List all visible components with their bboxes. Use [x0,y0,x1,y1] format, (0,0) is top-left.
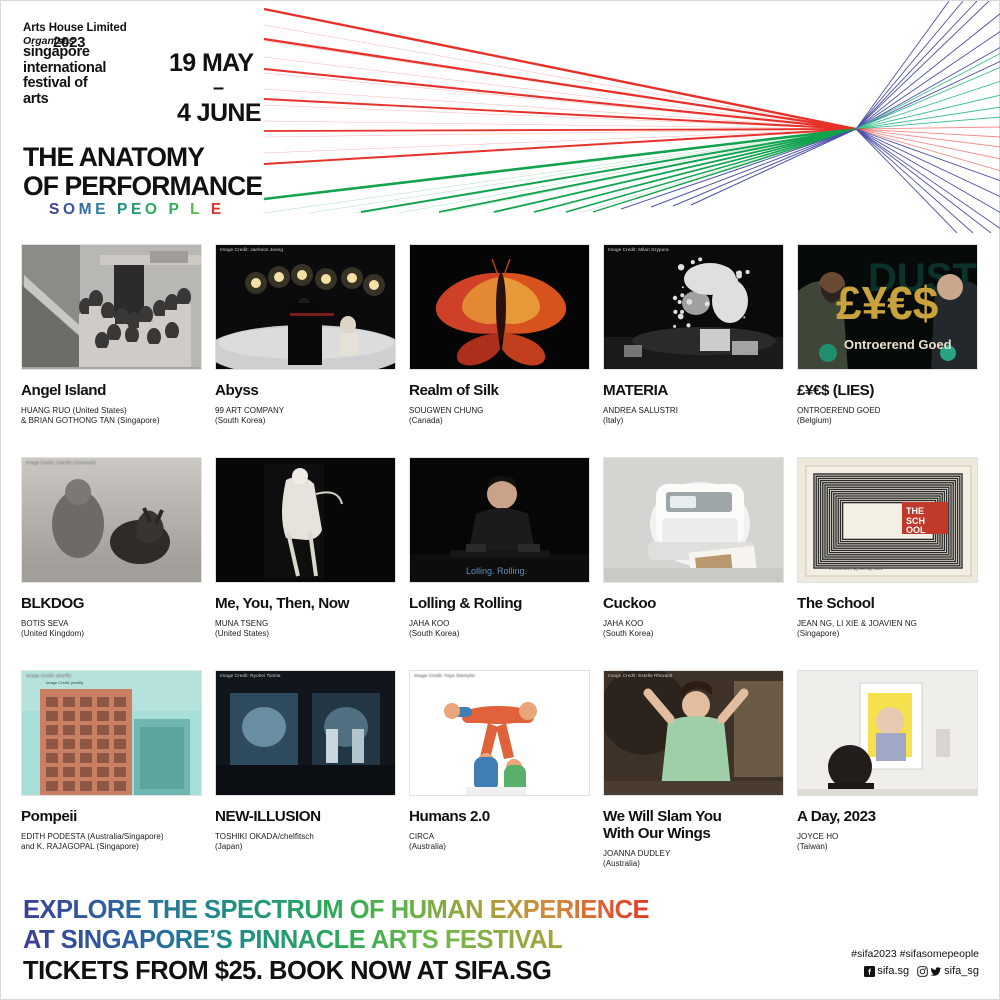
ray-line [856,53,1000,129]
svg-text:THE: THE [906,506,924,516]
subtheme-letter-4 [109,201,117,218]
ray-line [264,129,856,213]
image-credit: Image Credit: Milan Szypura [608,247,669,252]
tagline-line-1: EXPLORE THE SPECTRUM OF HUMAN EXPERIENCE [23,896,649,925]
pompeii-photo[interactable]: Image Credit: pixelflyImage Credit: pixe… [21,670,202,796]
programme-card[interactable]: Angel IslandHUANG RUO (United States)& B… [21,244,202,425]
programme-card[interactable]: Me, You, Then, NowMUNA TSENG(United Stat… [215,457,396,638]
we-will-slam-you-photo[interactable]: Image Credit: Estelle Rhiwaldt [603,670,784,796]
programme-card[interactable]: Lolling. Rolling.Lolling & RollingJAHA K… [409,457,590,638]
facebook-handle[interactable]: sifa.sg [877,965,909,977]
image-credit: Image Credit: Ryohei Tomita [220,673,281,678]
card-title: Angel Island [21,382,202,399]
instagram-icon[interactable] [917,966,928,977]
materia-photo[interactable]: Image Credit: Milan Szypura [603,244,784,370]
artist-line-2: (United Kingdom) [21,629,202,639]
image-credit: Image Credit: pixelfly [26,673,71,678]
ray-line [856,129,1000,197]
card-artist-credit: JOANNA DUDLEY(Australia) [603,849,784,868]
ray-line [264,69,856,129]
programme-card[interactable]: Image Credit: Estelle RhiwaldtWe Will Sl… [603,670,784,868]
image-credit: Image Credit: Yaya Stempler [414,673,475,678]
artist-line-1: ONTROEREND GOED [797,406,978,416]
theme-line-2: OF PERFORMANCE [23,172,262,201]
card-artist-credit: HUANG RUO (United States)& BRIAN GOTHONG… [21,406,202,425]
card-title: Humans 2.0 [409,808,590,825]
poster-header: Arts House Limited Organises 2023 singap… [1,1,999,233]
ray-line [264,9,856,129]
tagline-line-2: AT SINGAPORE’S PINNACLE ARTS FESTIVAL [23,926,562,955]
card-artist-credit: MUNA TSENG(United States) [215,619,396,638]
subtheme-letter-12 [203,201,211,218]
tagline-line-3: TICKETS FROM $25. BOOK NOW AT SIFA.SG [23,957,551,986]
artist-line-1: ANDREA SALUSTRI [603,406,784,416]
angel-island-photo[interactable] [21,244,202,370]
organisation-name: Arts House Limited [23,21,253,35]
lies-photo[interactable]: DUST £¥€$ Ontroerend Goed [797,244,978,370]
artist-line-2: (Australia) [409,842,590,852]
blkdog-photo[interactable]: Image Credit: Camilla Greenwell [21,457,202,583]
card-title: £¥€$ (LIES) [797,382,978,399]
artist-line-2: (Italy) [603,416,784,426]
subtheme-letter-13: E [211,201,225,218]
festival-name: singapore international festival of arts [23,45,106,107]
twitter-icon[interactable] [930,966,942,977]
svg-text:T. Devereux | Ng Jen Ng, 202: T. Devereux | Ng Jen Ng, 2023 [828,566,883,571]
card-artist-credit: ANDREA SALUSTRI(Italy) [603,406,784,425]
artist-line-2: (South Korea) [409,629,590,639]
subtheme-letter-6: E [131,201,145,218]
facebook-icon[interactable] [864,966,875,977]
card-title: Me, You, Then, Now [215,595,396,612]
programme-card[interactable]: Image Credit: Ryohei TomitaNEW-ILLUSIONT… [215,670,396,868]
card-title: MATERIA [603,382,784,399]
programme-card[interactable]: DUST £¥€$ Ontroerend Goed£¥€$ (LIES)ONTR… [797,244,978,425]
card-artist-credit: JAHA KOO(South Korea) [409,619,590,638]
card-artist-credit: BOTIS SEVA(United Kingdom) [21,619,202,638]
ray-line [856,129,973,233]
card-title: Cuckoo [603,595,784,612]
subtheme-letter-11: L [190,201,203,218]
theme-title: THE ANATOMY OF PERFORMANCE [23,143,262,201]
ray-line [264,89,856,129]
subtheme-letter-9: P [169,201,183,218]
cuckoo-photo[interactable] [603,457,784,583]
new-illusion-photo[interactable]: Image Credit: Ryohei Tomita [215,670,396,796]
artist-line-2: (Singapore) [797,629,978,639]
subtheme-letter-3: E [95,201,109,218]
programme-grid: Angel IslandHUANG RUO (United States)& B… [1,233,1000,868]
programme-card[interactable]: CuckooJAHA KOO(South Korea) [603,457,784,638]
ray-line [264,41,856,129]
ray-line [856,129,991,233]
card-artist-credit: 99 ART COMPANY(South Korea) [215,406,396,425]
card-title: BLKDOG [21,595,202,612]
ray-line [264,39,856,129]
social-handles: sifa.sg sifa_sg [864,965,979,977]
subtheme-some-people: SOME PEO P L E [49,201,225,219]
image-credit: Image Credit: Camilla Greenwell [26,460,95,465]
ray-line [264,105,856,129]
card-title: We Will Slam You With Our Wings [603,808,784,842]
subtheme-letter-7: O [145,201,161,218]
artist-line-2: & BRIAN GOTHONG TAN (Singapore) [21,416,202,426]
the-school-photo[interactable]: THE SCH OOL T. Devereux | Ng Jen Ng, 202… [797,457,978,583]
programme-card[interactable]: THE SCH OOL T. Devereux | Ng Jen Ng, 202… [797,457,978,638]
artist-line-2: and K. RAJAGOPAL (Singapore) [21,842,202,852]
svg-text:Image Credit: pixelfly: Image Credit: pixelfly [46,680,83,685]
svg-text:£¥€$: £¥€$ [836,277,938,329]
programme-row: Image Credit: Camilla GreenwellBLKDOGBOT… [1,457,1000,638]
subtheme-letter-10 [182,201,190,218]
artist-line-1: JOANNA DUDLEY [603,849,784,859]
subtheme-letter-5: P [117,201,131,218]
card-title: Realm of Silk [409,382,590,399]
artist-line-2: (South Korea) [215,416,396,426]
realm-of-silk-photo[interactable] [409,244,590,370]
svg-text:Ontroerend Goed: Ontroerend Goed [844,337,952,352]
artist-line-2: (Canada) [409,416,590,426]
subtheme-letter-1: O [63,201,79,218]
card-artist-credit: TOSHIKI OKADA/chelfitsch(Japan) [215,832,396,851]
card-title: Lolling & Rolling [409,595,590,612]
artist-line-1: BOTIS SEVA [21,619,202,629]
artist-line-2: (Belgium) [797,416,978,426]
card-artist-credit: JEAN NG, LI XIE & JOAVIEN NG(Singapore) [797,619,978,638]
artist-line-1: HUANG RUO (United States) [21,406,202,416]
ray-line [856,31,1000,129]
card-artist-credit: EDITH PODESTA (Australia/Singapore)and K… [21,832,202,851]
abyss-photo[interactable]: Image Credit: Jaehoon Jeong [215,244,396,370]
card-title: Pompeii [21,808,202,825]
artist-line-1: TOSHIKI OKADA/chelfitsch [215,832,396,842]
date-start: 19 MAY [169,49,253,77]
twitter-handle[interactable]: sifa_sg [944,965,979,977]
theme-line-1: THE ANATOMY [23,143,262,172]
programme-card[interactable]: Realm of SilkSOUGWEN CHUNG(Canada) [409,244,590,425]
programme-card[interactable]: Image Credit: pixelflyImage Credit: pixe… [21,670,202,868]
image-credit: Image Credit: Estelle Rhiwaldt [608,673,673,678]
artist-line-1: JAHA KOO [409,619,590,629]
programme-row: Angel IslandHUANG RUO (United States)& B… [1,244,1000,425]
card-artist-credit: CIRCA(Australia) [409,832,590,851]
programme-card[interactable]: Image Credit: Camilla GreenwellBLKDOGBOT… [21,457,202,638]
ray-line [856,129,1000,213]
artist-line-2: (South Korea) [603,629,784,639]
artist-line-2: (United States) [215,629,396,639]
svg-text:Lolling. Rolling.: Lolling. Rolling. [466,566,527,576]
card-artist-credit: JOYCE HO(Taiwan) [797,832,978,851]
card-title: A Day, 2023 [797,808,978,825]
artist-line-1: 99 ART COMPANY [215,406,396,416]
artist-line-1: SOUGWEN CHUNG [409,406,590,416]
programme-row: Image Credit: pixelflyImage Credit: pixe… [1,670,1000,868]
card-artist-credit: ONTROEREND GOED(Belgium) [797,406,978,425]
hashtags: #sifa2023 #sifasomepeople [851,948,979,960]
subtheme-letter-8 [161,201,169,218]
ray-line [856,129,1000,137]
artist-line-1: MUNA TSENG [215,619,396,629]
artist-line-1: JOYCE HO [797,832,978,842]
artist-line-1: JAHA KOO [603,619,784,629]
svg-text:OOL: OOL [906,525,926,535]
poster-page: Arts House Limited Organises 2023 singap… [0,0,1000,1000]
programme-card[interactable]: Image Credit: Jaehoon JeongAbyss99 ART C… [215,244,396,425]
artist-line-2: (Australia) [603,859,784,869]
card-title: Abyss [215,382,396,399]
programme-card[interactable]: A Day, 2023JOYCE HO(Taiwan) [797,670,978,868]
ray-line [264,99,856,129]
ray-line [856,129,957,233]
ray-line [579,129,856,213]
artist-line-2: (Taiwan) [797,842,978,852]
card-title: The School [797,595,978,612]
date-dash: – [213,78,261,98]
image-credit: Image Credit: Jaehoon Jeong [220,247,283,252]
ray-line [856,1,963,129]
ray-line [856,1,949,129]
card-artist-credit: SOUGWEN CHUNG(Canada) [409,406,590,425]
card-artist-credit: JAHA KOO(South Korea) [603,619,784,638]
ray-line [856,67,1000,129]
artist-line-1: JEAN NG, LI XIE & JOAVIEN NG [797,619,978,629]
ray-line [691,129,856,205]
ray-line [856,129,1000,181]
ray-line [264,73,856,129]
artist-line-1: CIRCA [409,832,590,842]
me-you-then-now-photo[interactable] [215,457,396,583]
a-day-2023-photo[interactable] [797,670,978,796]
programme-card[interactable]: Image Credit: Yaya StemplerHumans 2.0CIR… [409,670,590,868]
ray-line [856,1,977,129]
artist-line-1: EDITH PODESTA (Australia/Singapore) [21,832,202,842]
date-end: 4 JUNE [177,99,261,127]
artist-line-2: (Japan) [215,842,396,852]
humans-2-0-photo[interactable]: Image Credit: Yaya Stempler [409,670,590,796]
card-title: NEW-ILLUSION [215,808,396,825]
subtheme-letter-2: M [79,201,96,218]
subtheme-letter-0: S [49,201,63,218]
lolling-and-rolling-photo[interactable]: Lolling. Rolling. [409,457,590,583]
festival-dates: 19 MAY – 4 JUNE [169,48,261,128]
ray-line [856,129,1000,171]
programme-card[interactable]: Image Credit: Milan SzypuraMATERIAANDREA… [603,244,784,425]
